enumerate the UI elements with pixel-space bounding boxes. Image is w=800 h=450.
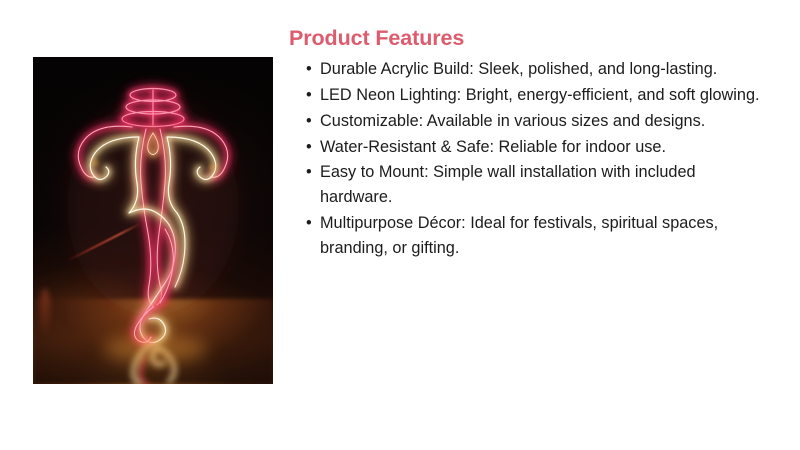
features-text-column: Product Features • Durable Acrylic Build… [289,26,771,262]
list-item-label: Customizable: Available in various sizes… [320,112,705,130]
list-item: • Durable Acrylic Build: Sleek, polished… [320,57,771,82]
features-list: • Durable Acrylic Build: Sleek, polished… [289,57,771,261]
ganesha-neon-icon [33,57,273,384]
bullet-icon: • [306,109,312,134]
list-item: • Water-Resistant & Safe: Reliable for i… [320,135,771,160]
bullet-icon: • [306,135,312,160]
list-item: • Multipurpose Décor: Ideal for festival… [320,211,771,261]
bullet-icon: • [306,160,312,185]
product-image [33,57,273,384]
page-title: Product Features [289,26,771,52]
list-item: • Easy to Mount: Simple wall installatio… [320,160,771,210]
list-item: • Customizable: Available in various siz… [320,109,771,134]
product-features-slide: Product Features • Durable Acrylic Build… [0,0,800,450]
bullet-icon: • [306,57,312,82]
list-item-label: Multipurpose Décor: Ideal for festivals,… [320,214,718,257]
list-item-label: LED Neon Lighting: Bright, energy-effici… [320,86,760,104]
bullet-icon: • [306,83,312,108]
bullet-icon: • [306,211,312,236]
list-item-label: Easy to Mount: Simple wall installation … [320,163,696,206]
list-item-label: Durable Acrylic Build: Sleek, polished, … [320,60,717,78]
list-item: • LED Neon Lighting: Bright, energy-effi… [320,83,771,108]
list-item-label: Water-Resistant & Safe: Reliable for ind… [320,138,666,156]
